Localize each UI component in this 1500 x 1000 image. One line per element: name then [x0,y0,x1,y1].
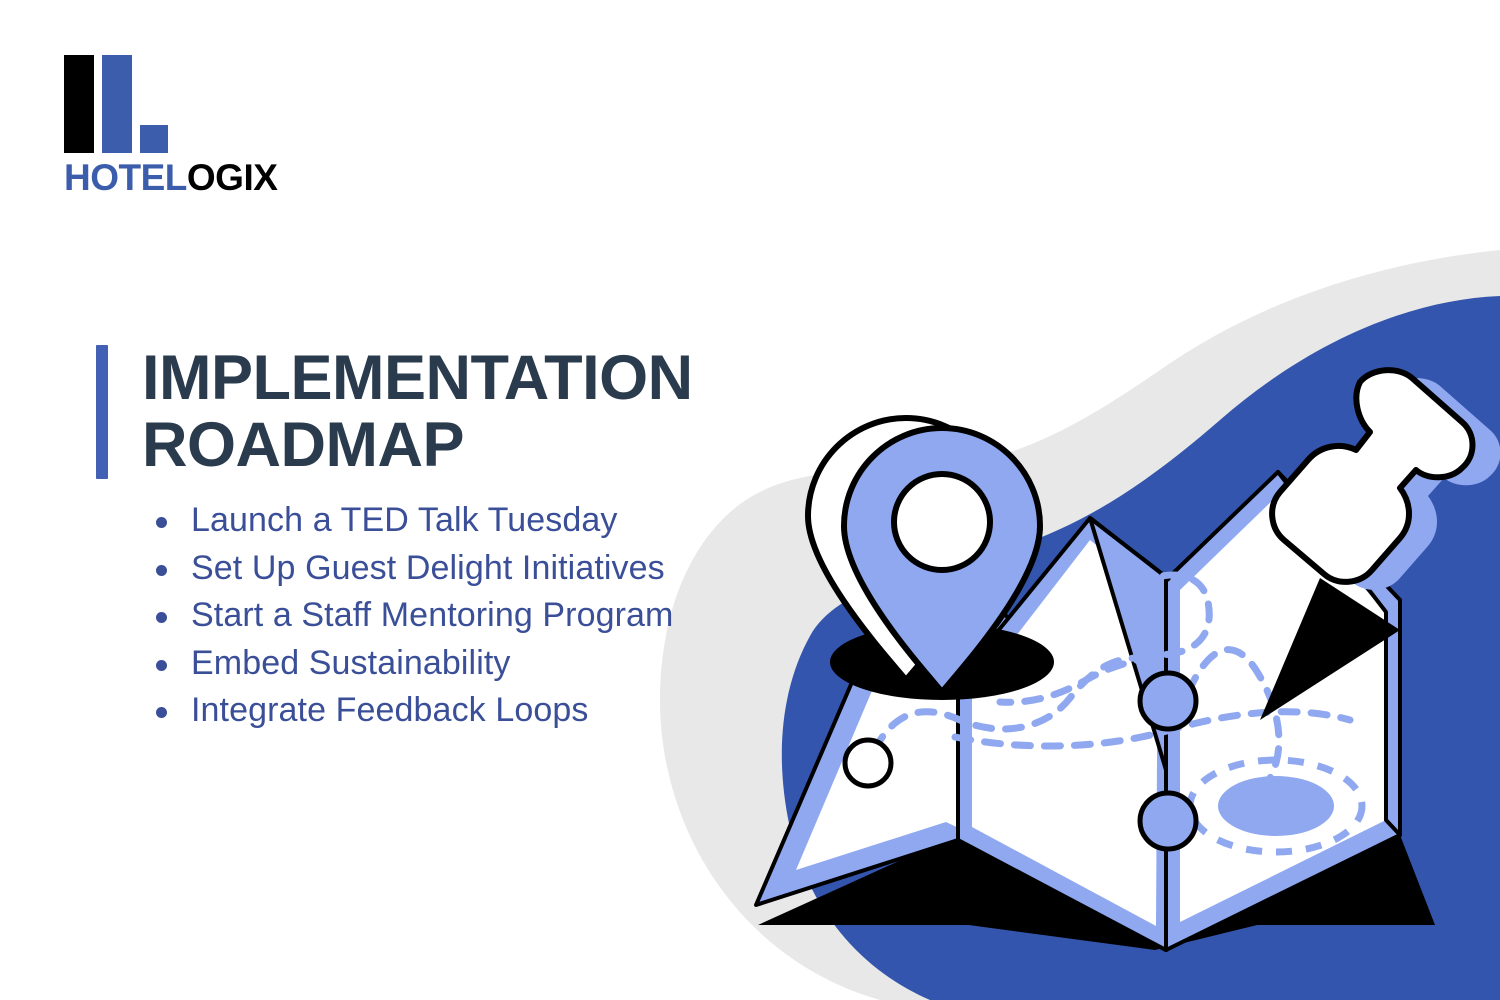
map-node-filled-upper-icon [1140,673,1196,729]
logo-bar-mark [64,55,264,153]
list-item: Start a Staff Mentoring Program [148,593,708,639]
logo-word-hotel: HOTEL [64,157,187,198]
logo-wordmark: HOTELOGIX [64,159,324,196]
location-pin-center-icon [894,474,990,570]
logo-bar-blue-icon [102,55,132,153]
roadmap-bullet-list: Launch a TED Talk Tuesday Set Up Guest D… [148,498,708,736]
map-node-filled-lower-icon [1140,793,1196,849]
pushpin-icon [1272,370,1472,582]
map-lake-icon [1218,776,1334,836]
map-node-hollow-icon [845,740,891,786]
list-item: Launch a TED Talk Tuesday [148,498,708,544]
logo-square-icon [140,125,168,153]
page-title: IMPLEMENTATION ROADMAP [142,345,693,479]
list-item: Set Up Guest Delight Initiatives [148,546,708,592]
title-accent-bar [96,345,108,479]
hotelogix-logo[interactable]: HOTELOGIX [64,55,324,196]
slide-canvas: HOTELOGIX IMPLEMENTATION ROADMAP Launch … [0,0,1500,1000]
list-item: Integrate Feedback Loops [148,688,708,734]
roadmap-illustration [700,250,1500,1000]
list-item: Embed Sustainability [148,641,708,687]
page-title-block: IMPLEMENTATION ROADMAP [96,345,693,479]
logo-bar-black-icon [64,55,94,153]
logo-word-ogix: OGIX [187,157,278,198]
